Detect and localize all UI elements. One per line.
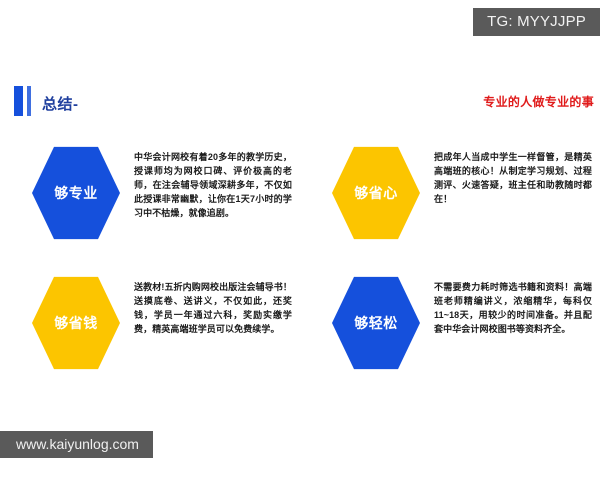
header-accent-bar-thin [27,86,31,116]
feature-description: 中华会计网校有着20多年的教学历史，授课师均为网校口碑、评价极高的老师，在注会辅… [134,150,292,220]
telegram-watermark: TG: MYYJJPP [473,8,600,36]
hexagon-label: 够轻松 [354,313,398,333]
hexagon-shape-icon: 够轻松 [332,275,420,371]
hexagon-shape-icon: 够省心 [332,145,420,241]
feature-description: 不需要费力耗时筛选书籍和资料！高端班老师精编讲义，浓缩精华，每科仅11~18天，… [434,280,592,336]
hexagon-label: 够省心 [354,183,398,203]
header-accent-bar-thick [14,86,23,116]
site-watermark: www.kaiyunlog.com [0,431,153,458]
hexagon-label: 够省钱 [54,313,98,333]
feature-description: 送教材!五折内购网校出版注会辅导书！送摸底卷、送讲义，不仅如此，还奖钱，学员一年… [134,280,292,336]
hexagon-badge: 够省钱 [32,275,120,371]
hexagon-badge: 够专业 [32,145,120,241]
hexagon-badge: 够省心 [332,145,420,241]
hexagon-shape-icon: 够专业 [32,145,120,241]
feature-cards-grid: 够专业 中华会计网校有着20多年的教学历史，授课师均为网校口碑、评价极高的老师，… [0,138,600,398]
feature-description: 把成年人当成中学生一样督管，是精英高端班的核心！从制定学习规划、过程测评、火速答… [434,150,592,206]
page-title: 总结- [42,93,79,114]
feature-card: 够专业 中华会计网校有着20多年的教学历史，授课师均为网校口碑、评价极高的老师，… [0,138,300,268]
hexagon-badge: 够轻松 [332,275,420,371]
feature-card: 够省钱 送教材!五折内购网校出版注会辅导书！送摸底卷、送讲义，不仅如此，还奖钱，… [0,268,300,398]
header-slogan: 专业的人做专业的事 [483,93,594,110]
feature-card: 够轻松 不需要费力耗时筛选书籍和资料！高端班老师精编讲义，浓缩精华，每科仅11~… [300,268,600,398]
feature-card: 够省心 把成年人当成中学生一样督管，是精英高端班的核心！从制定学习规划、过程测评… [300,138,600,268]
hexagon-shape-icon: 够省钱 [32,275,120,371]
section-header: 总结- 专业的人做专业的事 [0,84,600,120]
hexagon-label: 够专业 [54,183,98,203]
